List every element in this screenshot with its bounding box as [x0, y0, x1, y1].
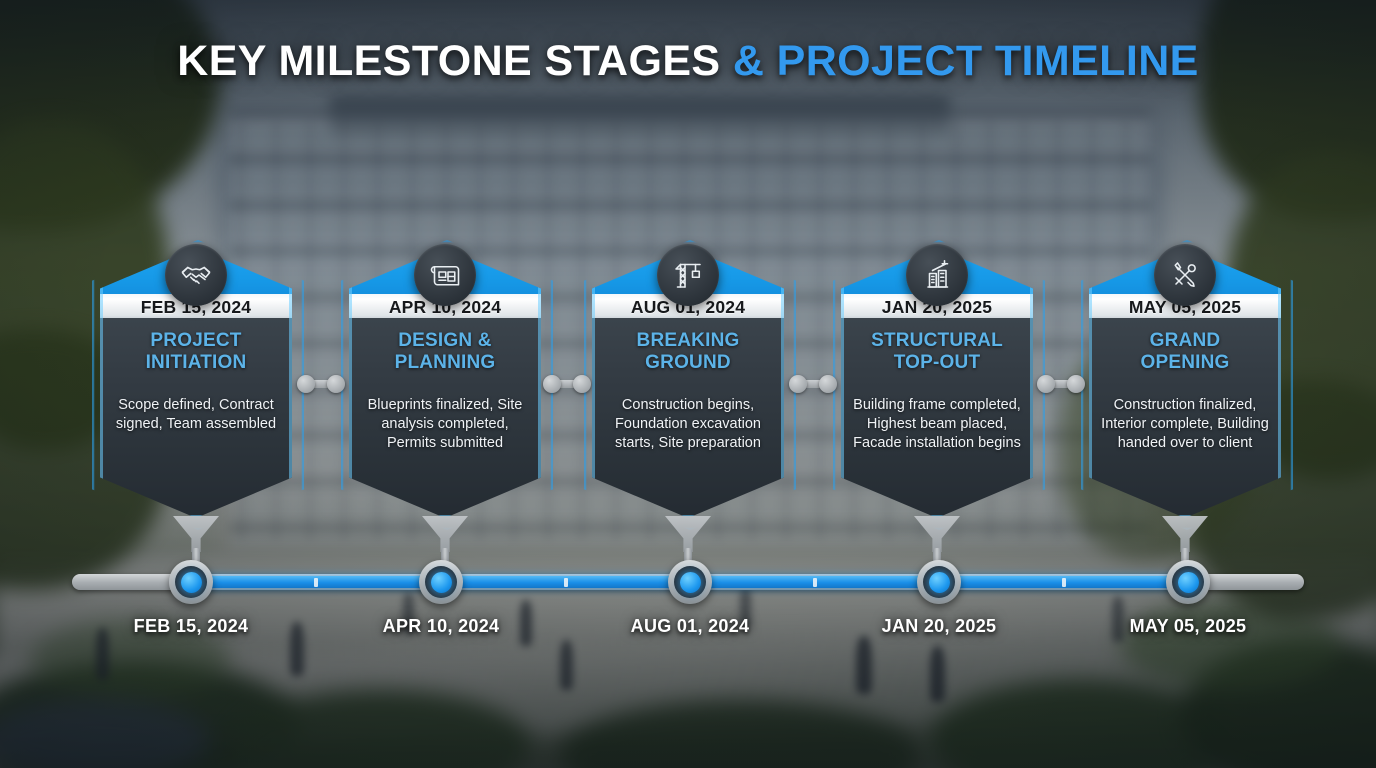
node-core [1178, 572, 1199, 593]
node-core [929, 572, 950, 593]
node-ring [425, 566, 457, 598]
connector-dot-left [789, 375, 807, 393]
timeline-midpoint-tick [314, 578, 318, 587]
timeline-date-label-4: JAN 20, 2025 [824, 616, 1054, 637]
node-ring [923, 566, 955, 598]
connector-dot-right [573, 375, 591, 393]
blueprint-icon [414, 244, 476, 306]
node-core [431, 572, 452, 593]
connector-dot-left [297, 375, 315, 393]
timeline-date-label-2: APR 10, 2024 [326, 616, 556, 637]
timeline-date-label-3: AUG 01, 2024 [575, 616, 805, 637]
timeline-midpoint-tick [564, 578, 568, 587]
node-ring [175, 566, 207, 598]
handshake-icon [165, 244, 227, 306]
key-tools-icon [1154, 244, 1216, 306]
card-connector-2 [543, 375, 591, 393]
connector-dot-right [1067, 375, 1085, 393]
card-connector-4 [1037, 375, 1085, 393]
node-core [680, 572, 701, 593]
infographic-canvas: KEY MILESTONE STAGES & PROJECT TIMELINE … [0, 0, 1376, 768]
node-ring [674, 566, 706, 598]
timeline-midpoint-tick [813, 578, 817, 587]
timeline-node-1[interactable] [169, 560, 213, 604]
timeline-midpoint-tick [1062, 578, 1066, 587]
node-core [181, 572, 202, 593]
card-connector-3 [789, 375, 837, 393]
connector-dot-right [819, 375, 837, 393]
connector-dot-left [543, 375, 561, 393]
node-ring [1172, 566, 1204, 598]
crane-icon [657, 244, 719, 306]
timeline-node-5[interactable] [1166, 560, 1210, 604]
connector-dot-right [327, 375, 345, 393]
timeline-axis: FEB 15, 2024APR 10, 2024AUG 01, 2024JAN … [0, 0, 1376, 768]
card-connector-1 [297, 375, 345, 393]
building-topout-icon [906, 244, 968, 306]
timeline-node-3[interactable] [668, 560, 712, 604]
timeline-node-2[interactable] [419, 560, 463, 604]
timeline-node-4[interactable] [917, 560, 961, 604]
timeline-date-label-1: FEB 15, 2024 [76, 616, 306, 637]
timeline-date-label-5: MAY 05, 2025 [1073, 616, 1303, 637]
connector-dot-left [1037, 375, 1055, 393]
